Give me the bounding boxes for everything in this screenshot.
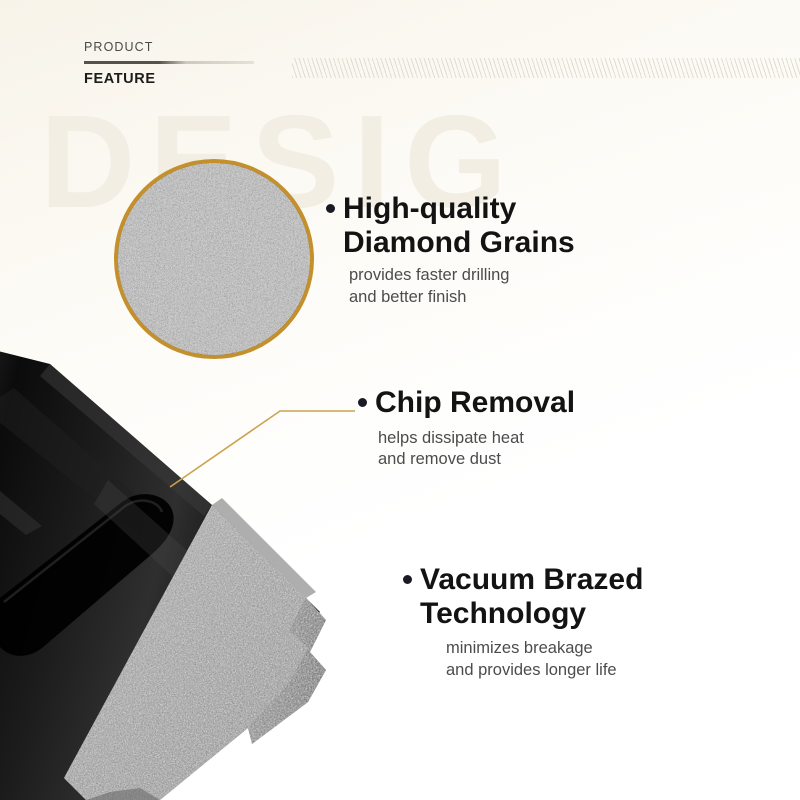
- magnified-diamond-grain-inset: [114, 159, 314, 359]
- callout-high-quality-diamond-grains: High-quality Diamond Grains provides fas…: [343, 192, 575, 308]
- bullet-icon: [358, 398, 367, 407]
- callout-2-heading-line1: Chip Removal: [375, 386, 575, 420]
- callout-chip-removal: Chip Removal helps dissipate heat and re…: [375, 386, 575, 470]
- callout-1-heading-line1: High-quality: [343, 192, 575, 226]
- drill-bit-illustration: [0, 330, 420, 800]
- bullet-icon: [403, 575, 412, 584]
- callout-2-sub-line2: and remove dust: [378, 449, 575, 470]
- diagonal-hatch-decoration: [292, 58, 800, 78]
- callout-vacuum-brazed-technology: Vacuum Brazed Technology minimizes break…: [420, 563, 643, 681]
- diamond-grit-texture: [114, 159, 314, 359]
- callout-2-sub-line1: helps dissipate heat: [378, 428, 575, 449]
- callout-3-sub-line2: and provides longer life: [446, 660, 643, 681]
- header-feature-label: FEATURE: [84, 71, 254, 87]
- callout-1-sub-line1: provides faster drilling: [349, 265, 575, 286]
- header-divider: [84, 61, 254, 64]
- product-feature-infographic: DESIG PRODUCT FEATURE: [0, 0, 800, 800]
- bullet-icon: [326, 204, 335, 213]
- callout-3-heading-line1: Vacuum Brazed: [420, 563, 643, 597]
- callout-3-heading-line2: Technology: [420, 597, 643, 631]
- callout-3-sub-line1: minimizes breakage: [446, 638, 643, 659]
- header-product-label: PRODUCT: [84, 40, 254, 54]
- header-block: PRODUCT FEATURE: [84, 40, 254, 87]
- callout-1-sub-line2: and better finish: [349, 287, 575, 308]
- callout-1-heading-line2: Diamond Grains: [343, 226, 575, 260]
